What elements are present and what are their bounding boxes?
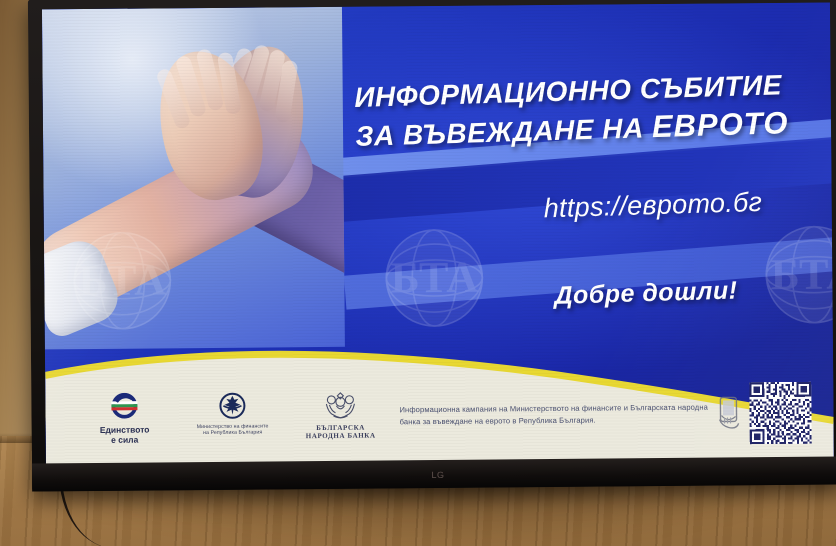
logo-caption-line2: НАРОДНА БАНКА <box>298 431 384 440</box>
headline-accent-evroto: ЕВРОТО <box>651 105 788 144</box>
welcome-text: Добре дошли! <box>554 276 738 310</box>
campaign-disclaimer: Информационна кампания на Министерството… <box>399 402 715 428</box>
euro-circle-tricolor-icon <box>107 392 141 422</box>
ministry-emblem-icon <box>217 391 247 421</box>
logo-bulgarian-national-bank: БЪЛГАРСКА НАРОДНА БАНКА <box>297 390 383 440</box>
footer-content: Единството е сила Министерство на финанс… <box>45 367 834 466</box>
logo-ministry-of-finance: Министерство на финансите на Република Б… <box>189 391 275 437</box>
bnb-coat-of-arms-icon <box>320 390 360 420</box>
slide-footer: Единството е сила Министерство на финанс… <box>45 329 834 466</box>
campaign-url[interactable]: https://еврото.бг <box>543 187 762 224</box>
lg-brand-logo: LG <box>431 470 444 480</box>
television: ИНФОРМАЦИОННО СЪБИТИЕ ЗА ВЪВЕЖДАНЕ НА ЕВ… <box>28 0 836 492</box>
slide-content: ИНФОРМАЦИОННО СЪБИТИЕ ЗА ВЪВЕЖДАНЕ НА ЕВ… <box>42 3 834 466</box>
headline-line-2-prefix: ЗА ВЪВЕЖДАНЕ НА <box>355 112 652 152</box>
slide-headline: ИНФОРМАЦИОННО СЪБИТИЕ ЗА ВЪВЕЖДАНЕ НА ЕВ… <box>354 65 834 155</box>
high-five-hands-photo <box>42 7 345 350</box>
qr-section <box>715 382 812 445</box>
partner-logos: Единството е сила Министерство на финанс… <box>45 390 383 445</box>
room-photo: ИНФОРМАЦИОННО СЪБИТИЕ ЗА ВЪВЕЖДАНЕ НА ЕВ… <box>0 0 836 546</box>
logo-unity-is-strength: Единството е сила <box>81 392 167 445</box>
logo-caption-line2: на Република България <box>190 430 276 437</box>
tv-screen-area: ИНФОРМАЦИОННО СЪБИТИЕ ЗА ВЪВЕЖДАНЕ НА ЕВ… <box>42 3 834 466</box>
hand-holding-phone-icon <box>715 395 741 431</box>
qr-code-icon[interactable] <box>749 382 812 445</box>
logo-caption-line2: е сила <box>82 435 168 446</box>
